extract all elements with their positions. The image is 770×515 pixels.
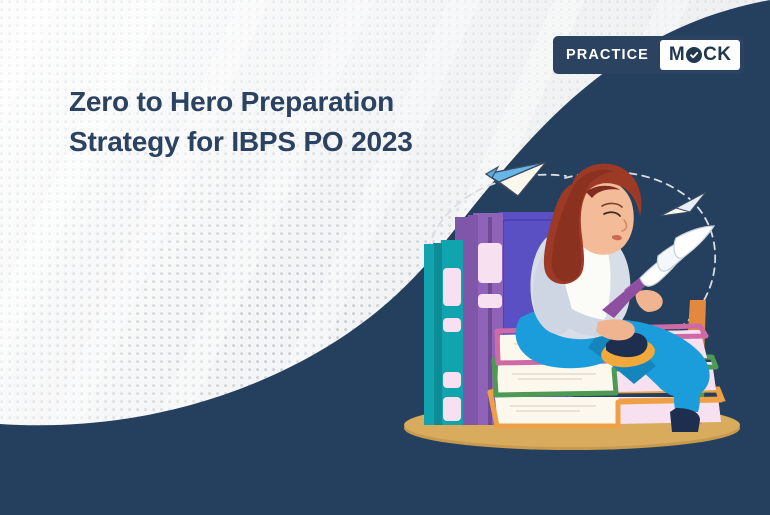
page-title: Zero to Hero Preparation Strategy for IB… (69, 82, 499, 162)
paper-airplane-small (660, 192, 706, 216)
student-reading-illustration (0, 0, 770, 515)
logo-mock-letters-ck: CK (703, 44, 731, 66)
page-title-line-2: Strategy for IBPS PO 2023 (69, 122, 499, 162)
page-title-line-1: Zero to Hero Preparation (69, 82, 499, 122)
logo-word-practice: PRACTICE (557, 40, 660, 70)
promo-banner: PRACTICE M CK Zero to Hero Preparation S… (0, 0, 770, 515)
brand-logo[interactable]: PRACTICE M CK (553, 36, 744, 74)
logo-mock-letter-m: M (669, 44, 685, 66)
check-circle-icon (686, 47, 702, 63)
paper-airplane-large (486, 162, 546, 196)
logo-word-mock: M CK (660, 40, 740, 70)
